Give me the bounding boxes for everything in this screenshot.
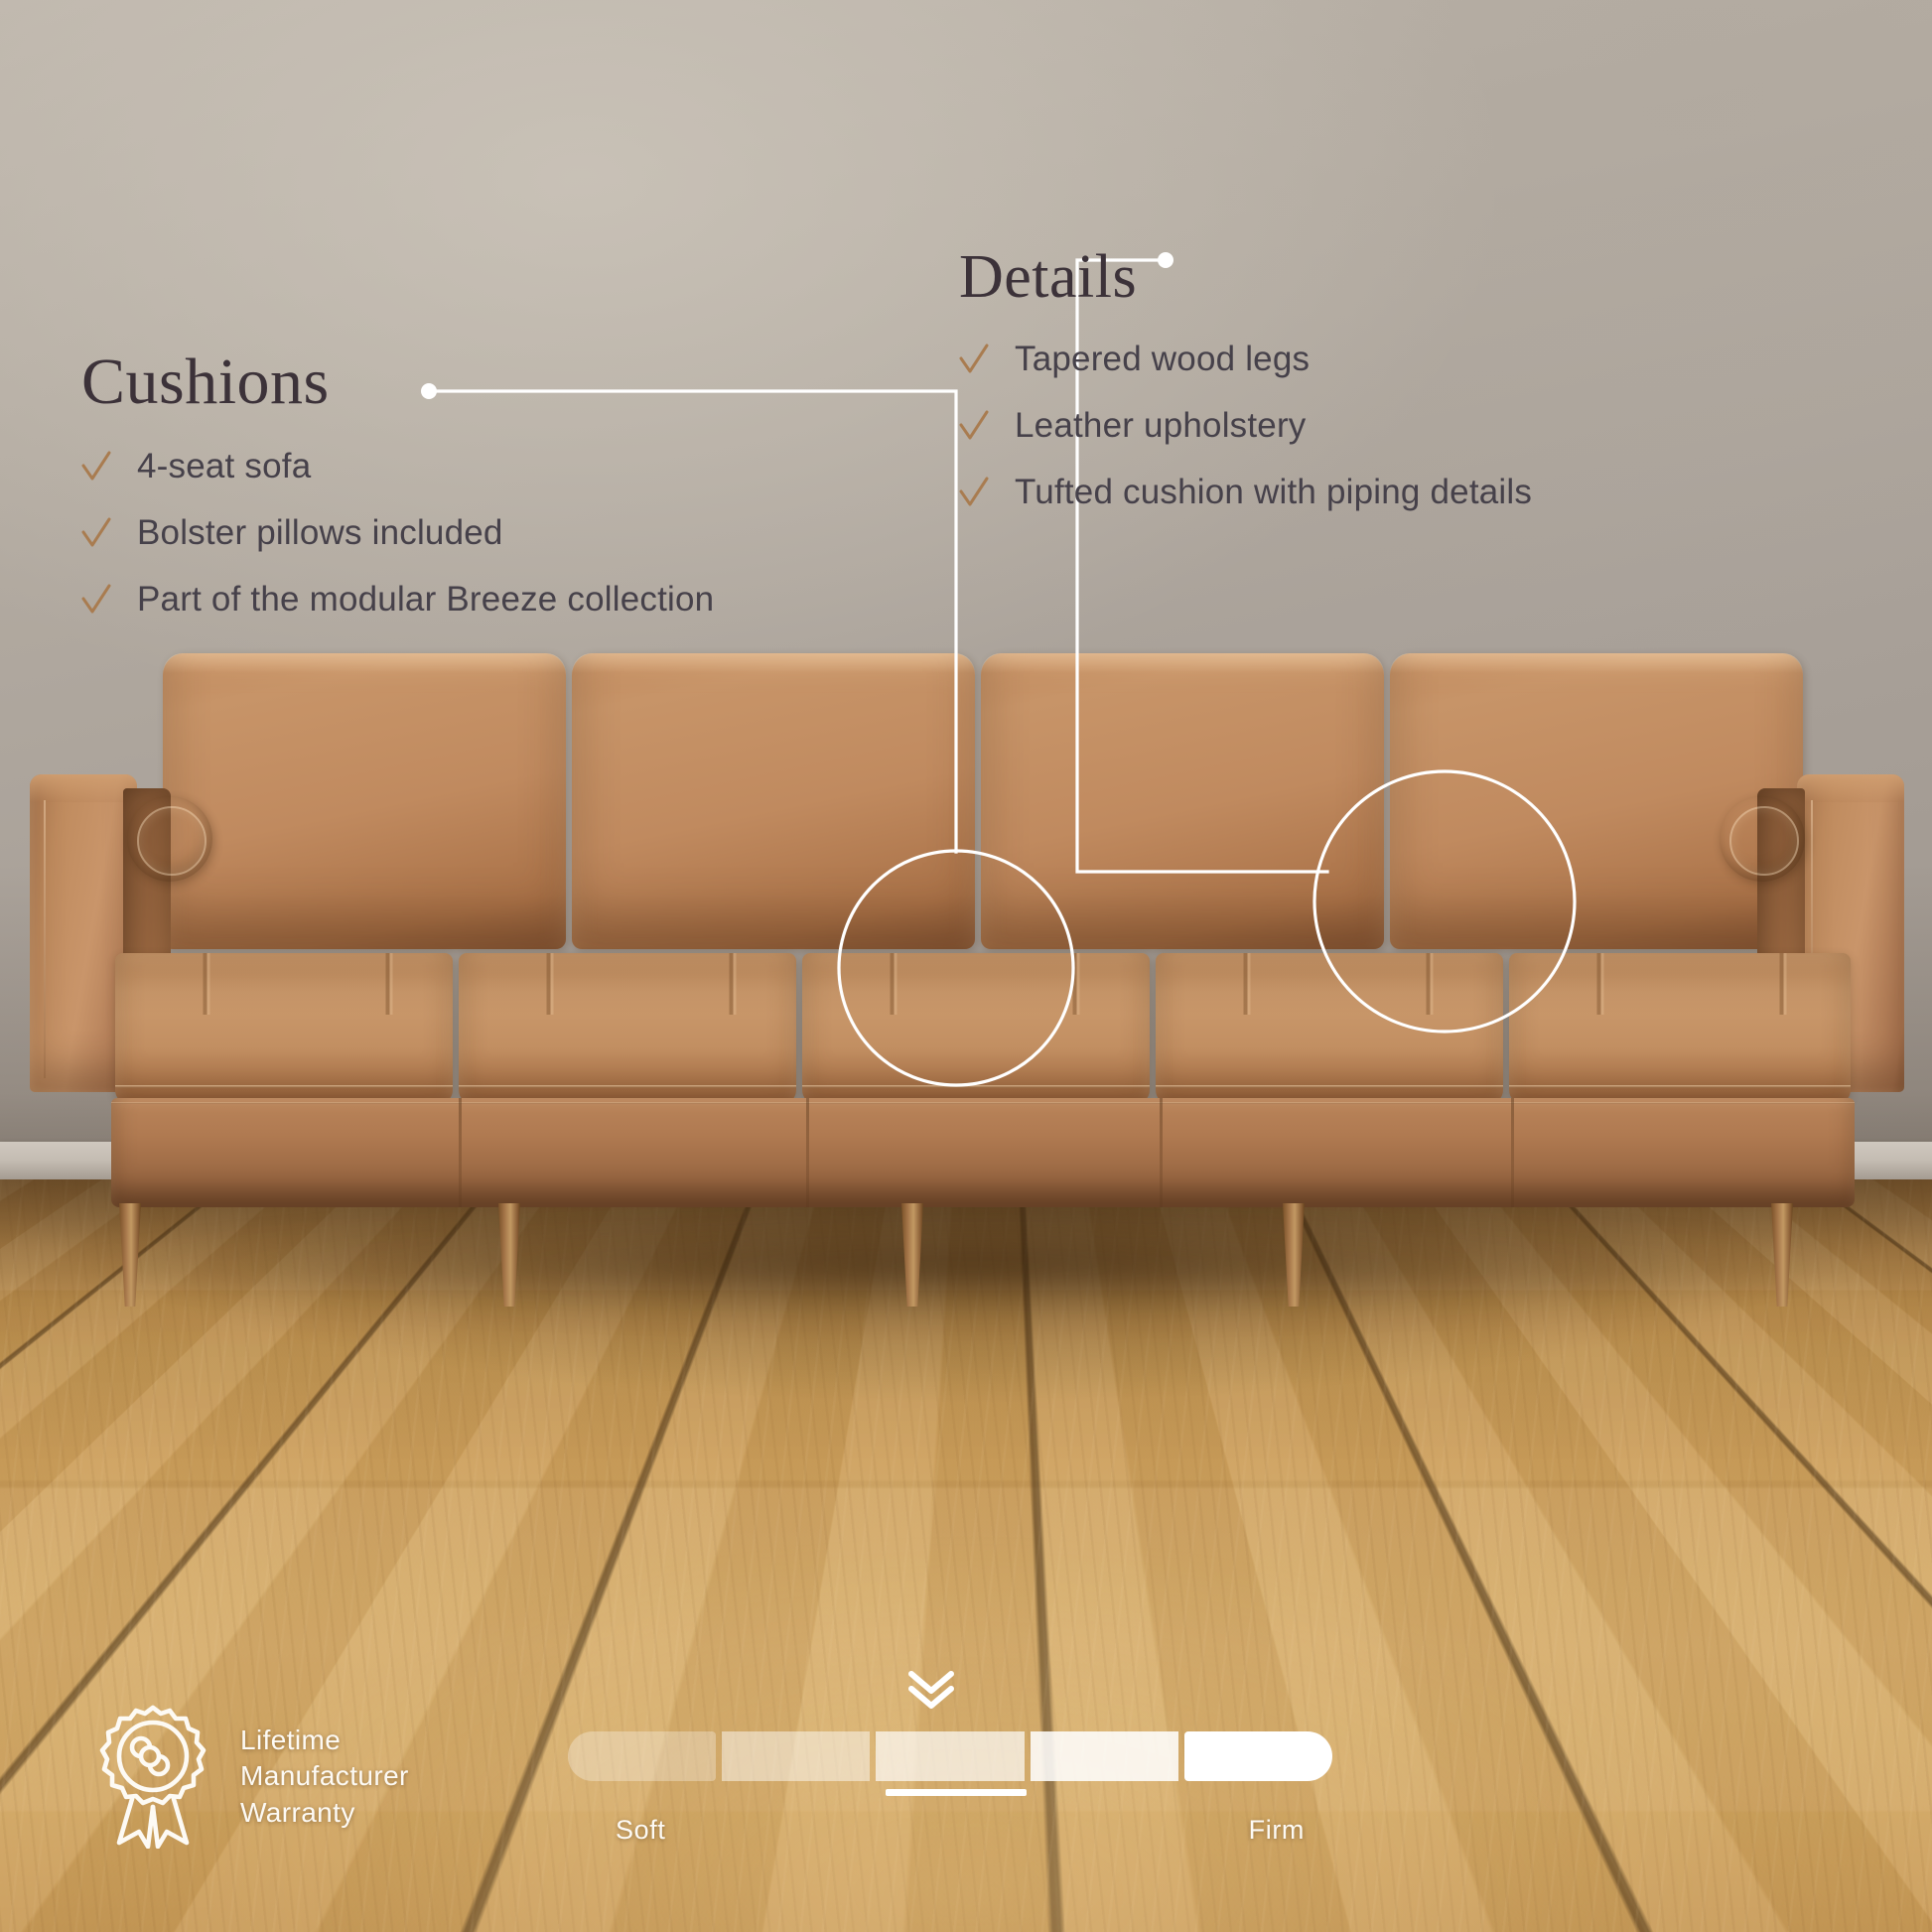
sofa-product-image [24, 774, 1910, 1370]
feature-item: Leather upholstery [959, 406, 1532, 446]
seat-piping [1156, 1085, 1503, 1088]
seat-piping [802, 1085, 1150, 1088]
warranty-line-1: Lifetime [240, 1723, 409, 1758]
warranty-badge: Lifetime Manufacturer Warranty [87, 1700, 409, 1854]
firmness-label-firm: Firm [1249, 1815, 1305, 1846]
bolster-pillow-left [127, 796, 212, 882]
check-icon [959, 343, 989, 376]
sofa-base [111, 1098, 1855, 1207]
seat-piping [459, 1085, 796, 1088]
seat-piping [115, 1085, 453, 1088]
seat-cushion-row [115, 953, 1851, 1106]
callout-block-cushions: Cushions 4-seat sofa Bolster pillows inc… [81, 349, 714, 646]
seat-cushion [1509, 953, 1851, 1104]
cushions-heading: Cushions [81, 349, 714, 415]
feature-item: Bolster pillows included [81, 513, 714, 553]
feature-label: Tufted cushion with piping details [1015, 473, 1532, 512]
back-cushion [572, 653, 975, 949]
firmness-label-soft: Soft [616, 1815, 665, 1846]
feature-label: Part of the modular Breeze collection [137, 580, 714, 620]
double-chevron-down-icon [903, 1668, 959, 1719]
feature-label: Bolster pillows included [137, 513, 503, 553]
tufting-pattern [802, 953, 1150, 1015]
base-divider [806, 1098, 809, 1207]
sofa-shadow [64, 1201, 1870, 1330]
firmness-segment-5[interactable] [1184, 1731, 1332, 1781]
award-ribbon-infinity-icon [87, 1700, 218, 1854]
base-divider [1160, 1098, 1163, 1207]
infographic-canvas: Cushions 4-seat sofa Bolster pillows inc… [0, 0, 1932, 1932]
arm-top-highlight [1797, 774, 1904, 802]
back-cushion [163, 653, 566, 949]
feature-item: Tufted cushion with piping details [959, 473, 1532, 512]
seat-piping [1509, 1085, 1851, 1088]
bolster-pillow-right [1720, 796, 1805, 882]
base-divider [459, 1098, 462, 1207]
details-heading: Details [959, 246, 1532, 308]
seat-cushion [459, 953, 796, 1104]
back-cushion-row [163, 653, 1803, 951]
check-icon [81, 450, 111, 483]
arm-top-highlight [30, 774, 137, 802]
base-seam [111, 1102, 1855, 1104]
back-cushion [981, 653, 1384, 949]
cushions-feature-list: 4-seat sofa Bolster pillows included Par… [81, 447, 714, 620]
firmness-segment-2[interactable] [722, 1731, 870, 1781]
warranty-line-3: Warranty [240, 1795, 409, 1831]
feature-label: Leather upholstery [1015, 406, 1307, 446]
firmness-segment-4[interactable] [1031, 1731, 1178, 1781]
feature-label: 4-seat sofa [137, 447, 311, 486]
seat-cushion [802, 953, 1150, 1104]
feature-item: Tapered wood legs [959, 340, 1532, 379]
tufting-pattern [1509, 953, 1851, 1015]
tufting-pattern [1156, 953, 1503, 1015]
check-icon [81, 583, 111, 617]
firmness-segment-3[interactable] [876, 1731, 1024, 1781]
base-divider [1511, 1098, 1514, 1207]
seat-cushion [115, 953, 453, 1104]
details-feature-list: Tapered wood legs Leather upholstery Tuf… [959, 340, 1532, 512]
firmness-segment-1[interactable] [568, 1731, 716, 1781]
warranty-line-2: Manufacturer [240, 1758, 409, 1794]
tufting-pattern [459, 953, 796, 1015]
check-icon [959, 476, 989, 509]
warranty-text: Lifetime Manufacturer Warranty [240, 1723, 409, 1831]
check-icon [81, 516, 111, 550]
arm-seam [44, 800, 46, 1078]
firmness-selected-indicator [886, 1789, 1027, 1796]
feature-label: Tapered wood legs [1015, 340, 1310, 379]
firmness-track[interactable] [568, 1731, 1332, 1781]
seat-cushion [1156, 953, 1503, 1104]
feature-item: 4-seat sofa [81, 447, 714, 486]
callout-block-details: Details Tapered wood legs Leather uphols… [959, 246, 1532, 539]
tufting-pattern [115, 953, 453, 1015]
feature-item: Part of the modular Breeze collection [81, 580, 714, 620]
check-icon [959, 409, 989, 443]
